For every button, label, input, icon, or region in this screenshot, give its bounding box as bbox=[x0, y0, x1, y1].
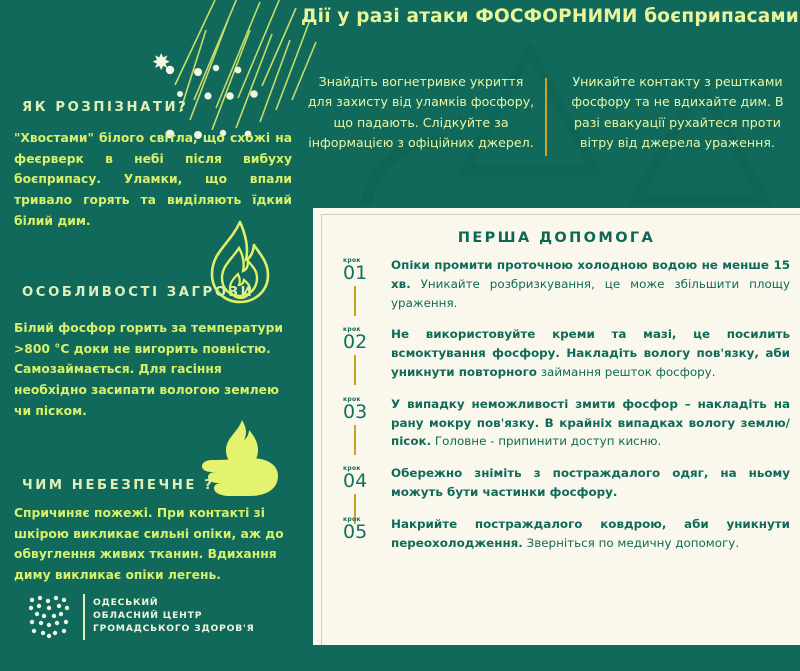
step-number-block: крок 02 bbox=[343, 327, 383, 353]
org-line-1: ОДЕСЬКИЙ bbox=[93, 596, 255, 609]
step-item: крок 03 У випадку неможливості змити фос… bbox=[335, 395, 790, 451]
page-title: Дії у разі атаки ФОСФОРНИМИ боєприпасами bbox=[300, 6, 800, 27]
step-number-block: крок 03 bbox=[343, 397, 383, 423]
divider-vertical bbox=[545, 78, 547, 156]
step-tick bbox=[354, 286, 356, 316]
infographic-root: Дії у разі атаки ФОСФОРНИМИ боєприпасами… bbox=[0, 0, 800, 671]
step-item: крок 04 Обережно зніміть з постраждалого… bbox=[335, 464, 790, 502]
step-text-rest: Зверніться по медичну допомогу. bbox=[523, 536, 739, 550]
step-item: крок 05 Накрийте постраждалого ковдрою, … bbox=[335, 515, 790, 553]
step-tick bbox=[354, 355, 356, 385]
first-aid-title: ПЕРША ДОПОМОГА bbox=[313, 230, 800, 246]
burning-hand-icon bbox=[196, 420, 292, 498]
step-text: Обережно зніміть з постраждалого одяг, н… bbox=[391, 464, 790, 502]
org-line-3: ГРОМАДСЬКОГО ЗДОРОВ'Я bbox=[93, 622, 255, 635]
logo-divider bbox=[83, 594, 85, 640]
step-item: крок 02 Не використовуйте креми та мазі,… bbox=[335, 325, 790, 381]
step-text-rest: займання решток фосфору. bbox=[537, 365, 716, 379]
top-note-shelter: Знайдіть вогнетривке укриття для захисту… bbox=[305, 72, 537, 154]
section-heading-why-dangerous: ЧИМ НЕБЕЗПЕЧНЕ ? bbox=[22, 478, 214, 493]
step-number: 04 bbox=[343, 472, 383, 492]
step-number: 05 bbox=[343, 523, 383, 543]
step-number-block: крок 01 bbox=[343, 258, 383, 284]
dotted-x-logo-icon bbox=[24, 592, 74, 642]
step-tick bbox=[354, 425, 356, 455]
section-body-how-to-recognize: "Хвостами" білого світла, що схожі на фе… bbox=[14, 128, 292, 231]
org-line-2: ОБЛАСНИЙ ЦЕНТР bbox=[93, 609, 255, 622]
section-body-threat-features: Білий фосфор горить за температури >800 … bbox=[14, 318, 284, 421]
step-number: 03 bbox=[343, 403, 383, 423]
step-text-bold: Обережно зніміть з постраждалого одяг, н… bbox=[391, 466, 790, 499]
step-number-block: крок 04 bbox=[343, 466, 383, 492]
step-text: Опіки промити проточною холодною водою н… bbox=[391, 256, 790, 312]
step-text-rest: Головне - припинити доступ кисню. bbox=[431, 434, 661, 448]
step-text: Накрийте постраждалого ковдрою, аби уник… bbox=[391, 515, 790, 553]
step-text: Не використовуйте креми та мазі, це поси… bbox=[391, 325, 790, 381]
organization-name: ОДЕСЬКИЙ ОБЛАСНИЙ ЦЕНТР ГРОМАДСЬКОГО ЗДО… bbox=[93, 596, 255, 635]
section-body-why-dangerous: Спричиняє пожежі. При контакті зі шкірою… bbox=[14, 503, 286, 586]
step-number: 01 bbox=[343, 264, 383, 284]
flame-icon bbox=[200, 218, 278, 306]
first-aid-steps: крок 01 Опіки промити проточною холодною… bbox=[335, 256, 790, 565]
step-text-rest: Уникайте розбризкування, це може збільши… bbox=[391, 277, 790, 310]
step-item: крок 01 Опіки промити проточною холодною… bbox=[335, 256, 790, 312]
step-text: У випадку неможливості змити фосфор – на… bbox=[391, 395, 790, 451]
section-heading-how-to-recognize: ЯК РОЗПІЗНАТИ? bbox=[22, 100, 188, 115]
top-note-avoid-contact: Уникайте контакту з рештками фосфору та … bbox=[560, 72, 795, 154]
first-aid-panel: ПЕРША ДОПОМОГА крок 01 Опіки промити про… bbox=[310, 205, 800, 645]
step-number: 02 bbox=[343, 333, 383, 353]
step-number-block: крок 05 bbox=[343, 517, 383, 543]
